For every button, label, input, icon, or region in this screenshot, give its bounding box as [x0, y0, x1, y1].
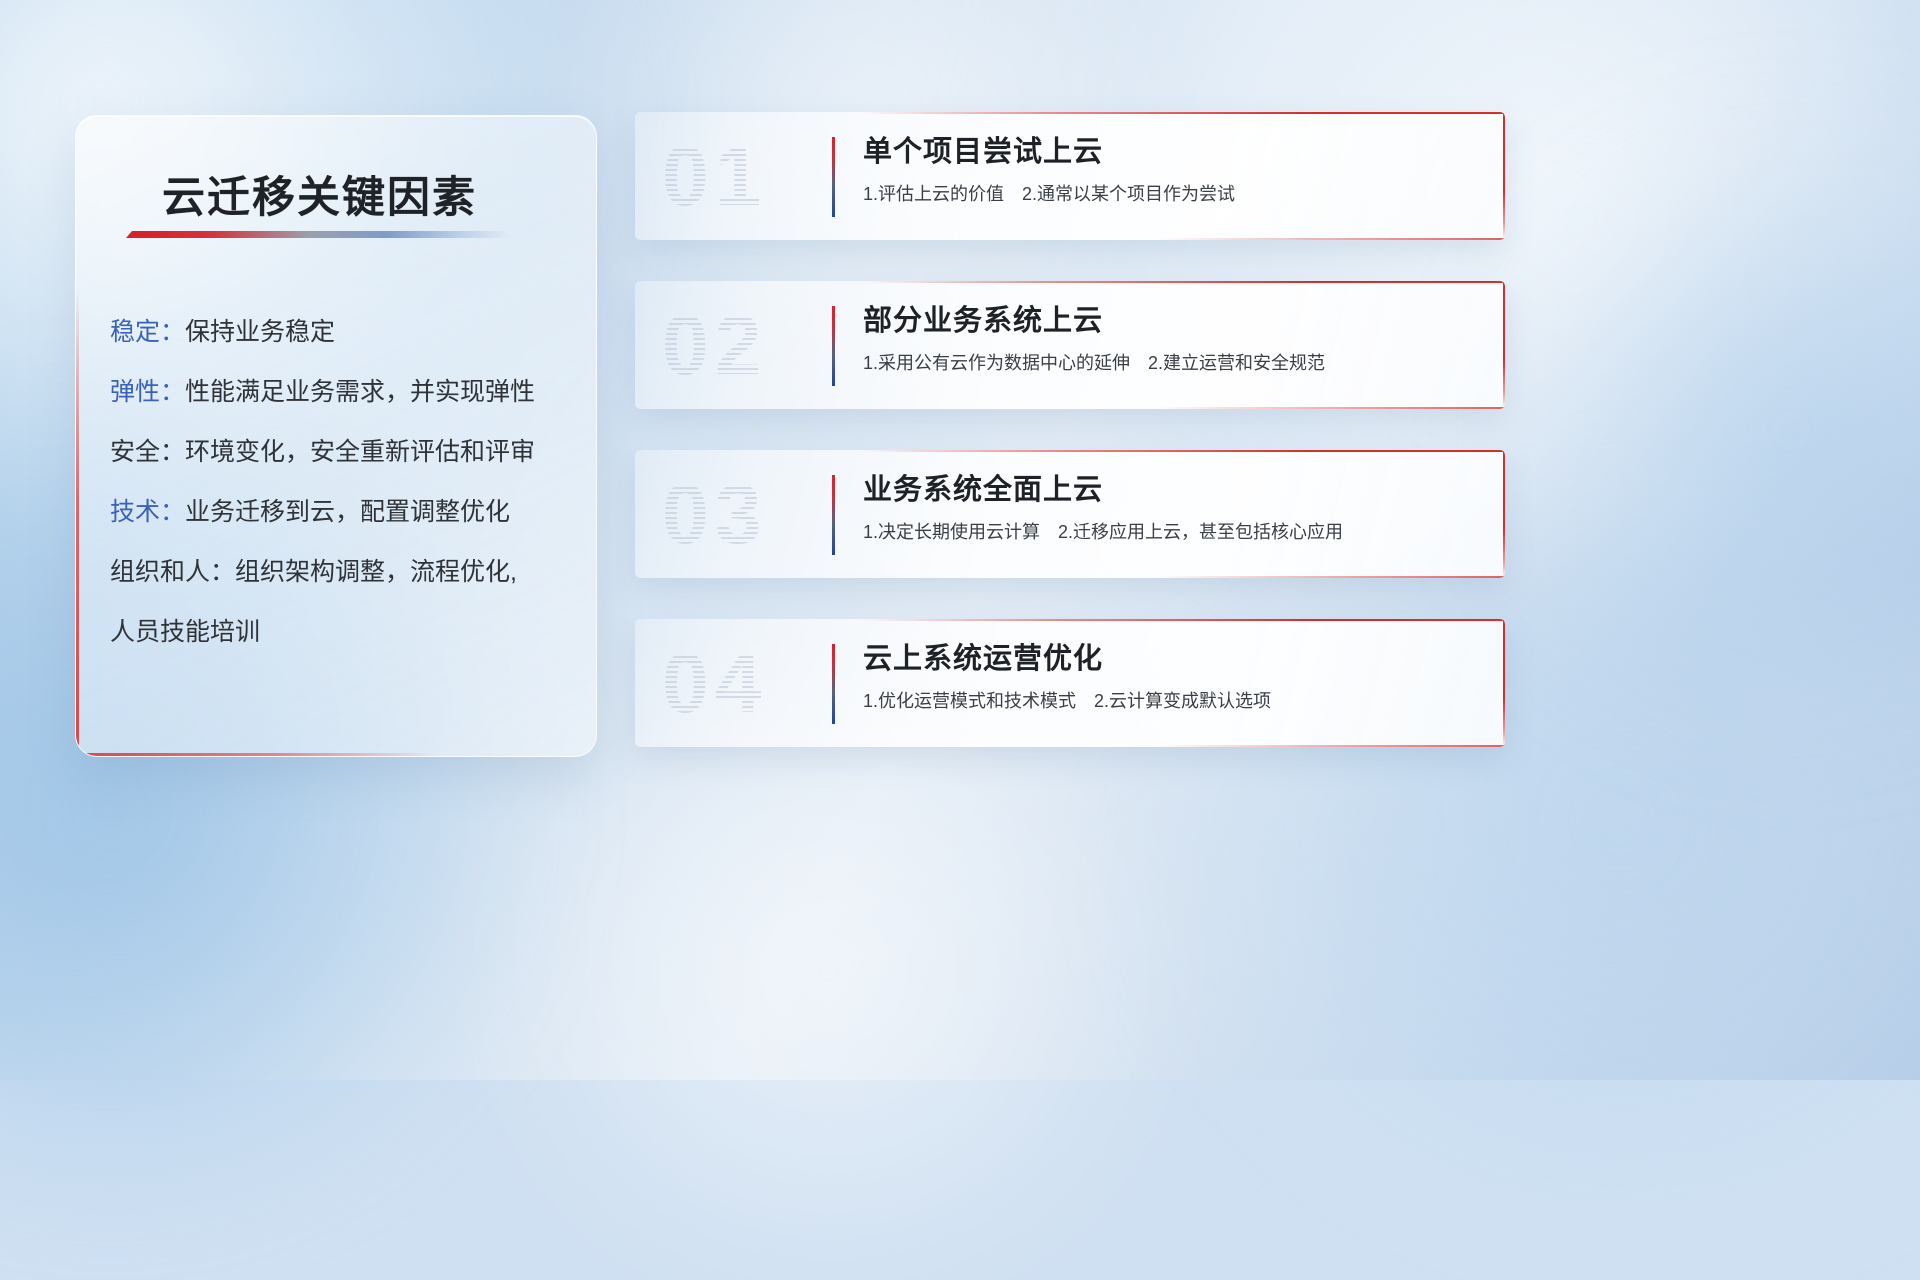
card-accent-top: [861, 281, 1505, 283]
stage-card-01[interactable]: 01 单个项目尝试上云 1.评估上云的价值 2.通常以某个项目作为尝试: [635, 112, 1505, 240]
factor-label: 技术：: [110, 498, 185, 526]
list-item: 弹性：性能满足业务需求，并实现弹性: [110, 362, 580, 422]
card-accent-top: [861, 112, 1505, 114]
card-text-block: 单个项目尝试上云 1.评估上云的价值 2.通常以某个项目作为尝试: [863, 130, 1481, 208]
card-description: 1.优化运营模式和技术模式 2.云计算变成默认选项: [863, 687, 1481, 715]
page-title: 云迁移关键因素: [162, 163, 477, 225]
card-accent-right: [1503, 281, 1505, 409]
card-accent-bottom: [1157, 238, 1505, 240]
factor-label: 组织和人：: [110, 558, 235, 586]
factor-value: 组织架构调整，流程优化,: [235, 558, 517, 586]
factor-label: 安全：: [110, 438, 185, 466]
stage-cards-column: 01 单个项目尝试上云 1.评估上云的价值 2.通常以某个项目作为尝试 02 部…: [635, 112, 1505, 788]
card-accent-top: [861, 619, 1505, 621]
list-item: 人员技能培训: [110, 602, 580, 662]
card-accent-right: [1503, 450, 1505, 578]
card-text-block: 部分业务系统上云 1.采用公有云作为数据中心的延伸 2.建立运营和安全规范: [863, 299, 1481, 377]
list-item: 稳定：保持业务稳定: [110, 302, 580, 362]
factor-value: 业务迁移到云，配置调整优化: [185, 498, 510, 526]
stage-card-03[interactable]: 03 业务系统全面上云 1.决定长期使用云计算 2.迁移应用上云，甚至包括核心应…: [635, 450, 1505, 578]
card-accent-bottom: [1157, 576, 1505, 578]
card-title: 云上系统运营优化: [863, 637, 1481, 681]
card-divider-bar: [832, 306, 835, 386]
card-description: 1.采用公有云作为数据中心的延伸 2.建立运营和安全规范: [863, 349, 1481, 377]
title-underline-accent: [126, 231, 510, 238]
card-number: 02: [662, 293, 812, 397]
factor-value: 人员技能培训: [110, 618, 260, 646]
list-item: 安全：环境变化，安全重新评估和评审: [110, 422, 580, 482]
list-item: 组织和人：组织架构调整，流程优化,: [110, 542, 580, 602]
factor-value: 性能满足业务需求，并实现弹性: [185, 378, 535, 406]
card-divider-bar: [832, 137, 835, 217]
factor-value: 环境变化，安全重新评估和评审: [185, 438, 535, 466]
card-description: 1.评估上云的价值 2.通常以某个项目作为尝试: [863, 180, 1481, 208]
card-accent-bottom: [1157, 745, 1505, 747]
list-item: 技术：业务迁移到云，配置调整优化: [110, 482, 580, 542]
card-text-block: 云上系统运营优化 1.优化运营模式和技术模式 2.云计算变成默认选项: [863, 637, 1481, 715]
card-divider-bar: [832, 644, 835, 724]
factor-label: 稳定：: [110, 318, 185, 346]
factor-label: 弹性：: [110, 378, 185, 406]
card-accent-right: [1503, 619, 1505, 747]
card-number: 03: [662, 462, 812, 566]
stage-card-04[interactable]: 04 云上系统运营优化 1.优化运营模式和技术模式 2.云计算变成默认选项: [635, 619, 1505, 747]
card-description: 1.决定长期使用云计算 2.迁移应用上云，甚至包括核心应用: [863, 518, 1481, 546]
card-number: 01: [662, 124, 812, 228]
card-accent-top: [861, 450, 1505, 452]
card-divider-bar: [832, 475, 835, 555]
card-number: 04: [662, 631, 812, 735]
key-factors-panel: 云迁移关键因素 稳定：保持业务稳定 弹性：性能满足业务需求，并实现弹性 安全：环…: [75, 115, 597, 757]
card-title: 部分业务系统上云: [863, 299, 1481, 343]
factor-value: 保持业务稳定: [185, 318, 335, 346]
stage-card-02[interactable]: 02 部分业务系统上云 1.采用公有云作为数据中心的延伸 2.建立运营和安全规范: [635, 281, 1505, 409]
key-factors-list: 稳定：保持业务稳定 弹性：性能满足业务需求，并实现弹性 安全：环境变化，安全重新…: [110, 302, 580, 662]
card-text-block: 业务系统全面上云 1.决定长期使用云计算 2.迁移应用上云，甚至包括核心应用: [863, 468, 1481, 546]
card-accent-right: [1503, 112, 1505, 240]
card-accent-bottom: [1157, 407, 1505, 409]
card-title: 业务系统全面上云: [863, 468, 1481, 512]
card-title: 单个项目尝试上云: [863, 130, 1481, 174]
